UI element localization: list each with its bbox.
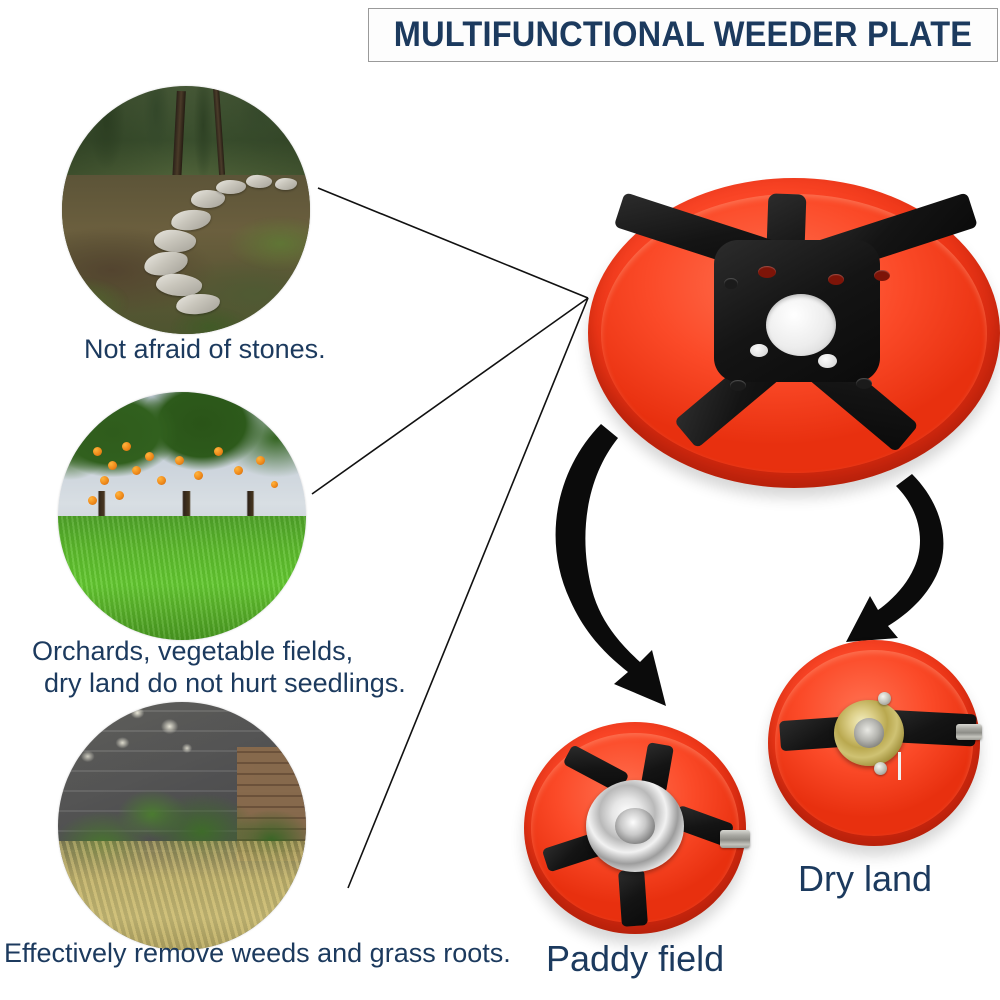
variant-label-paddy-field: Paddy field — [546, 938, 724, 980]
feature-caption-orchard-line2: dry land do not hurt seedlings. — [32, 668, 406, 700]
hub-center-hole — [766, 294, 836, 356]
orchard-photo — [58, 392, 306, 640]
feature-pointer-line-stones — [318, 188, 588, 298]
variant-label-dry-land: Dry land — [798, 858, 932, 900]
stone-path-photo — [62, 86, 310, 334]
dry-land-weeder-photo — [768, 640, 980, 846]
paddy-field-weeder-photo — [524, 722, 746, 934]
feature-caption-orchard-line1: Orchards, vegetable fields, — [32, 636, 406, 668]
feature-caption-weeds: Effectively remove weeds and grass roots… — [4, 938, 511, 970]
mounting-bolt — [720, 830, 750, 848]
feature-caption-stones: Not afraid of stones. — [84, 334, 326, 366]
feature-pointer-line-orchard — [312, 298, 588, 494]
curved-arrow-to-dry-land — [846, 474, 943, 642]
page-title: MULTIFUNCTIONAL WEEDER PLATE — [394, 15, 972, 55]
infographic-page: MULTIFUNCTIONAL WEEDER PLATE Not afraid … — [0, 0, 1000, 1000]
mounting-bolt — [956, 724, 982, 740]
feature-caption-orchard: Orchards, vegetable fields, dry land do … — [32, 636, 406, 700]
page-title-box: MULTIFUNCTIONAL WEEDER PLATE — [368, 8, 998, 62]
overgrown-weeds-photo — [58, 702, 306, 950]
weeder-plate-main-photo — [588, 178, 1000, 488]
